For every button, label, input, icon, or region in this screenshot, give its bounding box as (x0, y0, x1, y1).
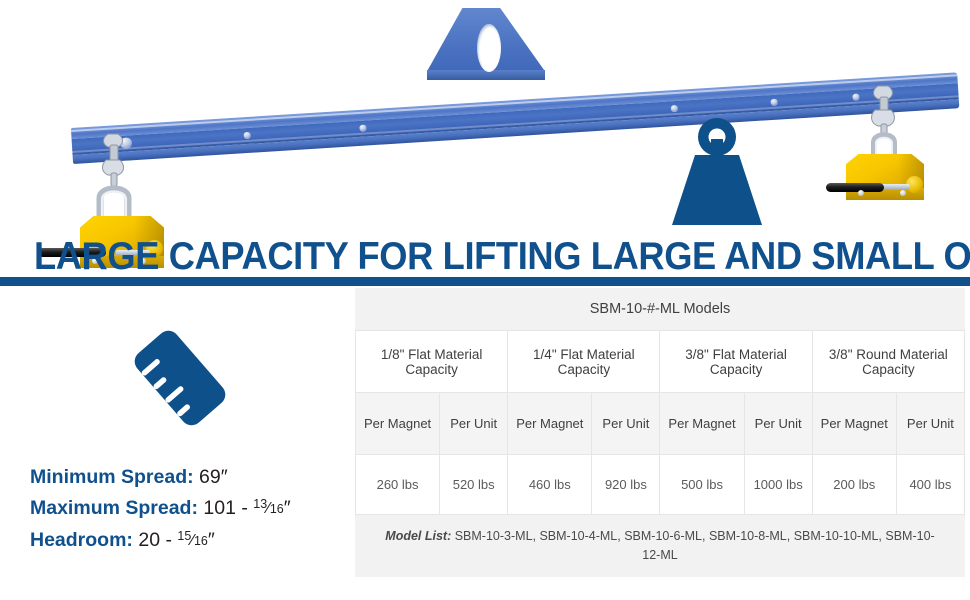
table-values-row: 260 lbs 520 lbs 460 lbs 920 lbs 500 lbs … (356, 455, 965, 515)
spec-item-maximum-spread: Maximum Spread: 101 - 13⁄16″ (30, 491, 355, 523)
shackle-and-bail-right (858, 84, 914, 160)
capacity-value-cell: 520 lbs (440, 455, 508, 515)
magnet-assembly-right (836, 84, 956, 204)
ruler-icon (128, 326, 232, 430)
lug-hole (477, 24, 501, 72)
group-header-cell: 1/4" Flat Material Capacity (508, 331, 660, 393)
lever-shaft (880, 184, 910, 190)
subheader-cell: Per Unit (896, 393, 964, 455)
table-title-row: SBM-10-#-ML Models (356, 289, 965, 331)
capacity-value-cell: 400 lbs (896, 455, 964, 515)
spec-label-headroom: Headroom: (30, 529, 133, 551)
table-model-list-row: Model List: SBM-10-3-ML, SBM-10-4-ML, SB… (356, 515, 965, 577)
capacity-value-cell: 260 lbs (356, 455, 440, 515)
model-list-values: SBM-10-3-ML, SBM-10-4-ML, SBM-10-6-ML, S… (451, 529, 934, 562)
spec-panel: Minimum Spread: 69″ Maximum Spread: 101 … (0, 288, 355, 600)
spec-item-headroom: Headroom: 20 - 15⁄16″ (30, 523, 355, 555)
subheader-cell: Per Unit (744, 393, 812, 455)
spec-value-maximum-spread-whole: 101 - (203, 497, 253, 519)
specs-and-table-section: Minimum Spread: 69″ Maximum Spread: 101 … (0, 288, 970, 600)
model-list-cell: Model List: SBM-10-3-ML, SBM-10-4-ML, SB… (356, 515, 965, 577)
spec-label-minimum-spread: Minimum Spread: (30, 466, 194, 488)
fraction-denominator: 16 (270, 502, 284, 516)
capacity-value-cell: 1000 lbs (744, 455, 812, 515)
magnet-bolt (858, 190, 864, 196)
banner-title: LARGE CAPACITY FOR LIFTING LARGE AND SMA… (34, 236, 936, 278)
weight-icon (665, 115, 769, 227)
magnet-lever-handle (826, 183, 884, 192)
fraction-numerator: 15 (177, 529, 191, 543)
beam (71, 72, 960, 164)
capacity-table: SBM-10-#-ML Models 1/8" Flat Material Ca… (355, 288, 965, 577)
spec-item-minimum-spread: Minimum Spread: 69″ (30, 464, 355, 491)
subheader-cell: Per Magnet (812, 393, 896, 455)
shackle-and-bail-left (88, 132, 144, 224)
group-header-cell: 3/8" Round Material Capacity (812, 331, 964, 393)
subheader-cell: Per Unit (592, 393, 660, 455)
subheader-cell: Per Magnet (356, 393, 440, 455)
capacity-value-cell: 200 lbs (812, 455, 896, 515)
infographic-page: LARGE CAPACITY FOR LIFTING LARGE AND SMA… (0, 0, 970, 600)
magnet-bolt (900, 190, 906, 196)
group-header-cell: 3/8" Flat Material Capacity (660, 331, 812, 393)
group-header-cell: 1/8" Flat Material Capacity (356, 331, 508, 393)
spec-label-maximum-spread: Maximum Spread: (30, 497, 198, 519)
capacity-value-cell: 920 lbs (592, 455, 660, 515)
spec-fraction-maximum-spread: 13⁄16 (253, 491, 283, 523)
subheader-cell: Per Magnet (508, 393, 592, 455)
table-title-cell: SBM-10-#-ML Models (356, 289, 965, 331)
model-list-label: Model List: (385, 529, 451, 543)
subheader-cell: Per Unit (440, 393, 508, 455)
title-underline-bar (0, 277, 970, 286)
spec-fraction-headroom: 15⁄16 (177, 523, 207, 555)
table-group-header-row: 1/8" Flat Material Capacity 1/4" Flat Ma… (356, 331, 965, 393)
fraction-denominator: 16 (194, 534, 208, 548)
fraction-numerator: 13 (253, 497, 267, 511)
table-subheader-row: Per Magnet Per Unit Per Magnet Per Unit … (356, 393, 965, 455)
spec-value-minimum-spread: 69″ (199, 466, 228, 488)
subheader-cell: Per Magnet (660, 393, 744, 455)
capacity-value-cell: 460 lbs (508, 455, 592, 515)
title-banner: LARGE CAPACITY FOR LIFTING LARGE AND SMA… (0, 236, 970, 288)
spec-value-headroom-whole: 20 - (138, 529, 177, 551)
capacity-value-cell: 500 lbs (660, 455, 744, 515)
lifting-lug (427, 8, 545, 80)
spec-list: Minimum Spread: 69″ Maximum Spread: 101 … (30, 464, 355, 555)
